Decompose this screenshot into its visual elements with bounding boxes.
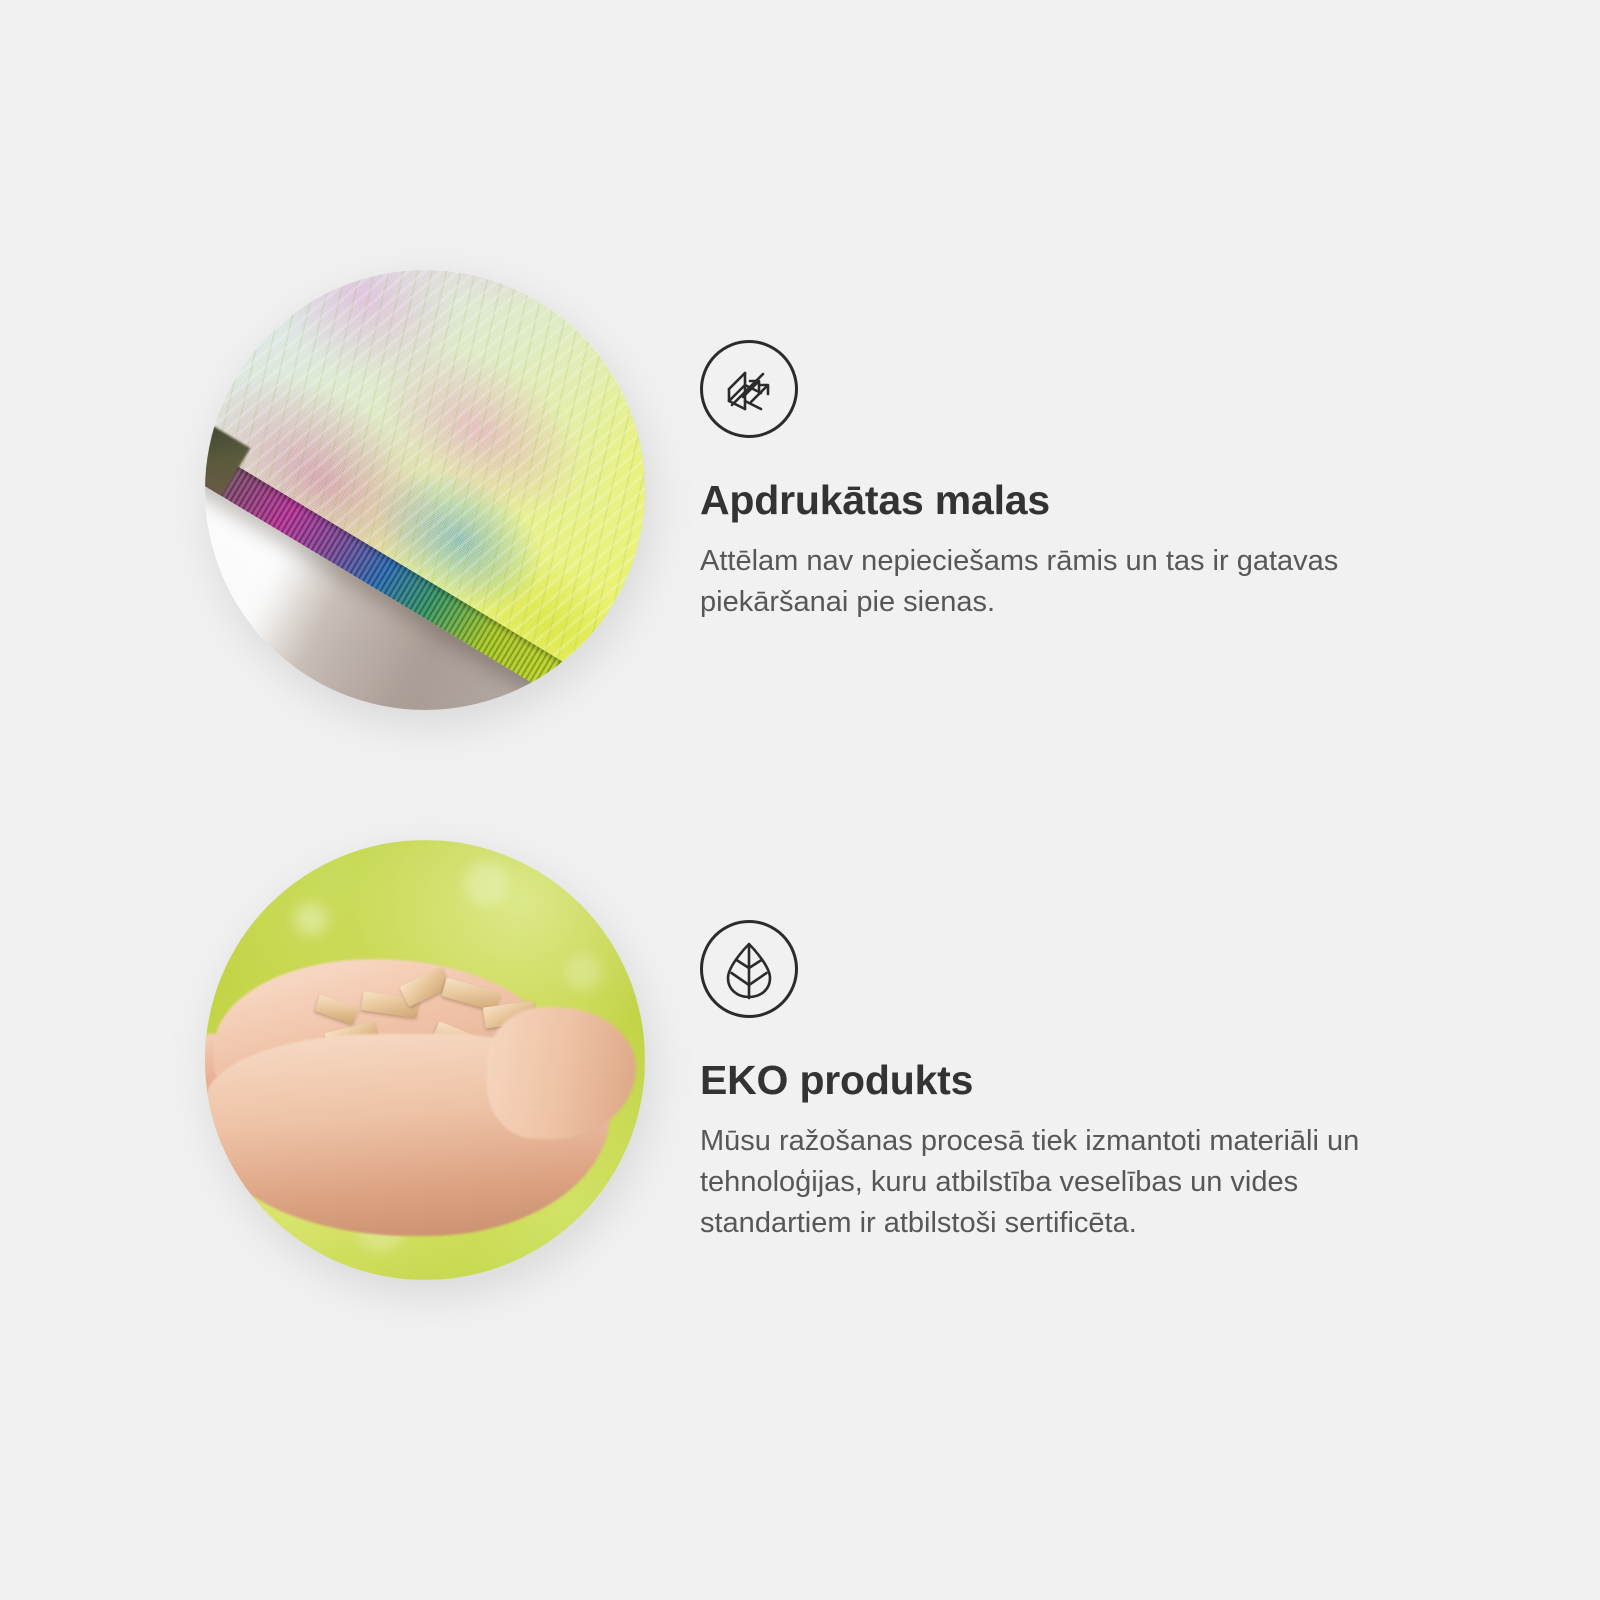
feature-description: Mūsu ražošanas procesā tiek izmantoti ma… (700, 1121, 1420, 1245)
feature-media-column (0, 250, 700, 730)
feature-title: Apdrukātas malas (700, 478, 1600, 523)
feature-text-column: EKO produkts Mūsu ražošanas procesā tiek… (700, 830, 1600, 1245)
feature-printed-edges: Apdrukātas malas Attēlam nav nepieciešam… (0, 250, 1600, 730)
product-features-page: Apdrukātas malas Attēlam nav nepieciešam… (0, 0, 1600, 1600)
leaf-icon (700, 920, 798, 1018)
feature-eco-product: EKO produkts Mūsu ražošanas procesā tiek… (0, 830, 1600, 1310)
feature-media-column (0, 830, 700, 1310)
feature-text-column: Apdrukātas malas Attēlam nav nepieciešam… (700, 250, 1600, 623)
canvas-wrap-arrows-icon (700, 340, 798, 438)
feature-description: Attēlam nav nepieciešams rāmis un tas ir… (700, 541, 1420, 623)
canvas-edge-photo (205, 270, 645, 710)
wood-chips-hands-photo (205, 840, 645, 1280)
feature-title: EKO produkts (700, 1058, 1600, 1103)
